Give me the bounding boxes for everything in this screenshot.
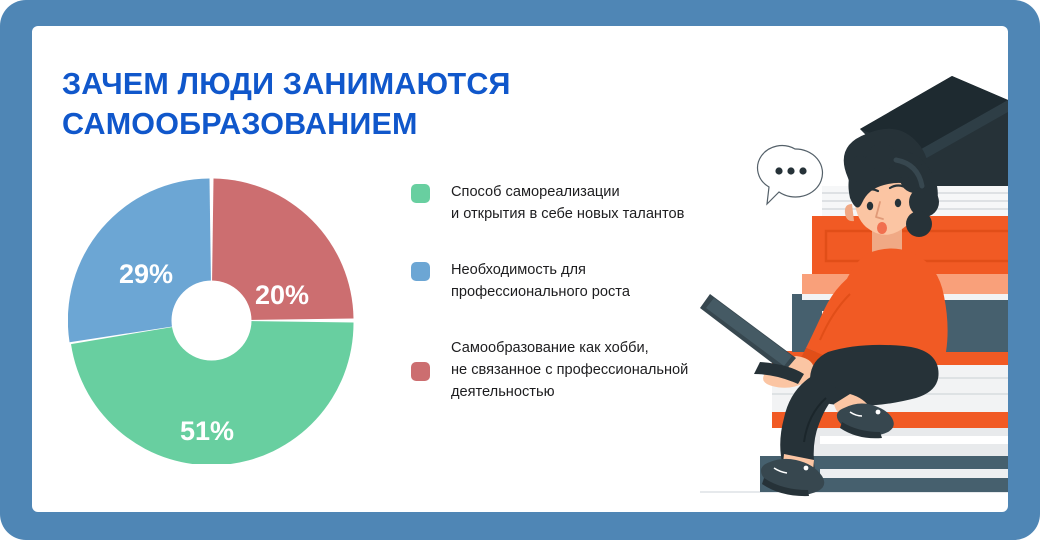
pie-label-green: 51% — [180, 416, 234, 446]
legend-item-professional-growth[interactable]: Необходимость для профессионального рост… — [411, 259, 741, 303]
pie-label-red: 20% — [255, 280, 309, 310]
legend-label-professional-growth: Необходимость для профессионального рост… — [451, 259, 630, 303]
donut-chart: 20% 29% 51% — [68, 177, 355, 464]
donut-hole — [172, 281, 252, 361]
legend-swatch-blue-icon — [411, 262, 430, 281]
legend-label-self-realization: Способ самореализации и открытия в себе … — [451, 181, 684, 225]
illustration-svg — [700, 26, 1008, 512]
eye-right — [895, 199, 901, 207]
illustration-woman-reading — [700, 26, 1008, 512]
laptop-icon — [700, 294, 804, 384]
mouth — [877, 222, 887, 234]
slide-card: ЗАЧЕМ ЛЮДИ ЗАНИМАЮТСЯ САМООБРАЗОВАНИЕМ 2… — [32, 26, 1008, 512]
pie-label-blue: 29% — [119, 259, 173, 289]
slide-frame: ЗАЧЕМ ЛЮДИ ЗАНИМАЮТСЯ САМООБРАЗОВАНИЕМ 2… — [0, 0, 1040, 540]
chart-legend: Способ самореализации и открытия в себе … — [411, 181, 741, 403]
speech-bubble-icon — [758, 146, 823, 204]
legend-swatch-green-icon — [411, 184, 430, 203]
legend-item-hobby[interactable]: Самообразование как хобби, не связанное … — [411, 337, 741, 403]
legend-item-self-realization[interactable]: Способ самореализации и открытия в себе … — [411, 181, 741, 225]
page-title: ЗАЧЕМ ЛЮДИ ЗАНИМАЮТСЯ САМООБРАЗОВАНИЕМ — [62, 64, 662, 144]
legend-swatch-red-icon — [411, 362, 430, 381]
donut-chart-svg: 20% 29% 51% — [68, 177, 355, 464]
legend-label-hobby: Самообразование как хобби, не связанное … — [451, 337, 688, 403]
eye-left — [867, 202, 873, 210]
